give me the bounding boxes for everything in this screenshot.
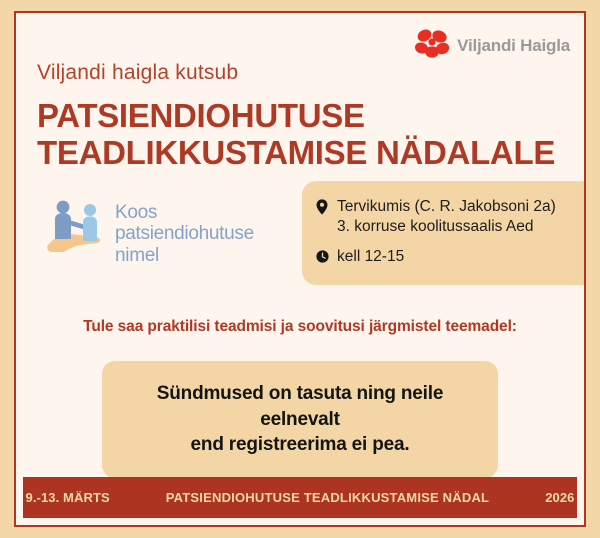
notice-line-1: Sündmused on tasuta ning neile eelnevalt: [120, 381, 480, 432]
clock-icon: [316, 247, 330, 269]
hospital-wordmark: Viljandi Haigla: [457, 36, 570, 56]
notice-box: Sündmused on tasuta ning neile eelnevalt…: [102, 361, 498, 478]
hospital-logo: Viljandi Haigla: [414, 27, 570, 64]
info-time: kell 12-15: [316, 247, 574, 269]
headline-line-2: TEADLIKKUSTAMISE NÄDALALE: [37, 134, 577, 171]
info-time-value: kell 12-15: [337, 247, 404, 267]
banner-dates: 9.-13. MÄRTS: [14, 490, 124, 505]
info-time-text: kell 12-15: [337, 247, 404, 267]
kicker-text: Viljandi haigla kutsub: [37, 61, 238, 85]
middle-row: Koos patsiendiohutuse nimel Tervikumis (…: [16, 181, 584, 285]
poster-root: Viljandi Haigla Viljandi haigla kutsub P…: [0, 0, 600, 538]
prompt-text: Tule saa praktilisi teadmisi ja soovitus…: [16, 318, 584, 336]
info-location-text: Tervikumis (C. R. Jakobsoni 2a) 3. korru…: [337, 197, 556, 236]
campaign-text-line-3: nimel: [115, 245, 254, 266]
bottom-banner: 9.-13. MÄRTS PATSIENDIOHUTUSE TEADLIKKUS…: [23, 477, 577, 518]
campaign-logo-text: Koos patsiendiohutuse nimel: [115, 197, 254, 266]
campaign-text-line-2: patsiendiohutuse: [115, 223, 254, 244]
event-info-box: Tervikumis (C. R. Jakobsoni 2a) 3. korru…: [302, 181, 584, 285]
headline-line-1: PATSIENDIOHUTUSE: [37, 97, 365, 134]
info-location: Tervikumis (C. R. Jakobsoni 2a) 3. korru…: [316, 197, 574, 236]
campaign-text-line-1: Koos: [115, 202, 254, 223]
banner-title: PATSIENDIOHUTUSE TEADLIKKUSTAMISE NÄDAL: [124, 490, 531, 505]
flower-icon: [414, 27, 450, 64]
map-pin-icon: [316, 197, 330, 221]
banner-year: 2026: [531, 490, 586, 505]
page-title: PATSIENDIOHUTUSE TEADLIKKUSTAMISE NÄDALA…: [37, 97, 577, 172]
campaign-logo: Koos patsiendiohutuse nimel: [16, 181, 306, 266]
notice-line-2: end registreerima ei pea.: [120, 432, 480, 458]
two-figures-on-hand-icon: [46, 197, 108, 260]
info-location-line-2: 3. korruse koolitussaalis Aed: [337, 217, 556, 237]
poster-card: Viljandi Haigla Viljandi haigla kutsub P…: [14, 11, 586, 527]
info-location-line-1: Tervikumis (C. R. Jakobsoni 2a): [337, 197, 556, 217]
